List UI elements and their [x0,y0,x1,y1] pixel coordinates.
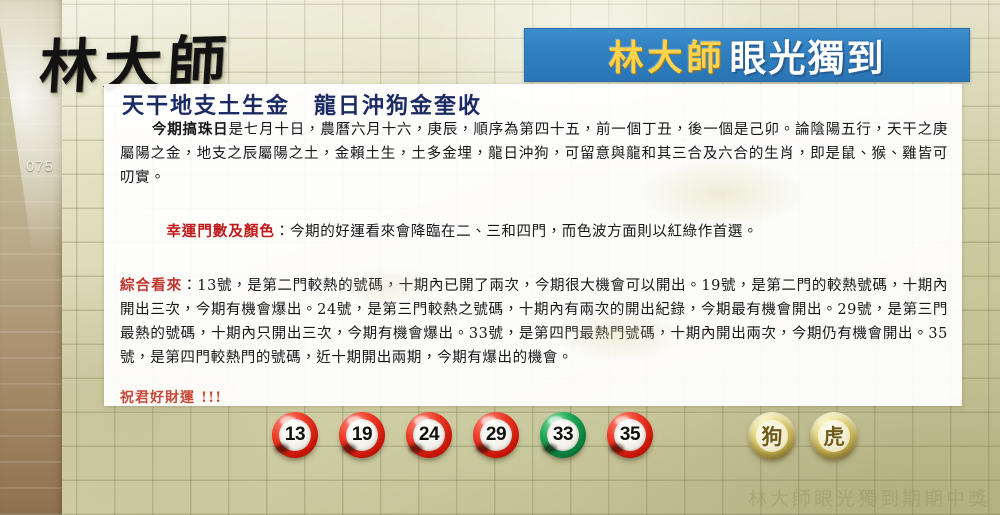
zodiac-glyph: 狗 [762,421,783,451]
summary-body: ：13號，是第二門較熱的號碼，十期內已開了兩次，今期很大機會可以開出。19號，是… [120,278,948,366]
lottery-ball[interactable]: 19 [339,412,385,458]
summary-label: 綜合看來 [120,277,182,294]
paragraph-lead-label: 今期搞珠日 [152,121,229,138]
lucky-gate-body: ：今期的好運看來會降臨在二、三和四門，而色波方面則以紅綠作首選。 [275,224,758,240]
lottery-ball[interactable]: 13 [272,412,318,458]
ball-number: 33 [553,424,573,446]
article-headline: 天干地支土生金 龍日沖狗金奎收 [122,88,482,120]
lottery-ball-row: 13 19 24 29 33 35 [272,412,653,458]
lottery-ball[interactable]: 33 [540,412,586,458]
zodiac-coin-dog[interactable]: 狗 [748,412,796,460]
lucky-gate-label: 幸運門數及顏色 [166,223,275,240]
background-watermark: 林大師眼光獨到期期中獎 [748,484,990,511]
ball-number: 19 [352,424,372,446]
banner-brand-text: 林大師 [608,30,725,81]
ball-number: 35 [620,424,640,446]
ball-number: 24 [419,424,439,446]
zodiac-coin-row: 狗 虎 [748,412,858,460]
zodiac-glyph: 虎 [824,421,845,451]
article-sheet: 天干地支土生金 龍日沖狗金奎收 今期搞珠日是七月十日，農曆六月十六，庚辰，順序為… [104,84,962,406]
ball-number: 13 [285,424,305,446]
lottery-ball[interactable]: 29 [473,412,519,458]
issue-number: 075 [26,158,54,175]
ball-number: 29 [486,424,506,446]
article-paragraph-summary: 綜合看來：13號，是第二門較熱的號碼，十期內已開了兩次，今期很大機會可以開出。1… [120,274,948,370]
lottery-ball[interactable]: 35 [607,412,653,458]
closing-wish: 祝君好財運 !!! [120,387,222,407]
article-paragraph-lucky: 幸運門數及顏色：今期的好運看來會降臨在二、三和四門，而色波方面則以紅綠作首選。 [120,220,948,244]
lottery-ball[interactable]: 24 [406,412,452,458]
banner-slogan-text: 眼光獨到 [730,28,886,82]
article-paragraph-intro: 今期搞珠日是七月十日，農曆六月十六，庚辰，順序為第四十五，前一個丁丑，後一個是己… [120,118,948,190]
paragraph-intro-body: 是七月十日，農曆六月十六，庚辰，順序為第四十五，前一個丁丑，後一個是己卯。論陰陽… [120,122,948,186]
poster-canvas: 075 2025年7月10日 下午六佛爾新 林大師 林大師 眼光獨到 天干地支土… [0,0,1000,515]
title-banner: 林大師 眼光獨到 [524,28,970,82]
zodiac-coin-tiger[interactable]: 虎 [810,412,858,460]
